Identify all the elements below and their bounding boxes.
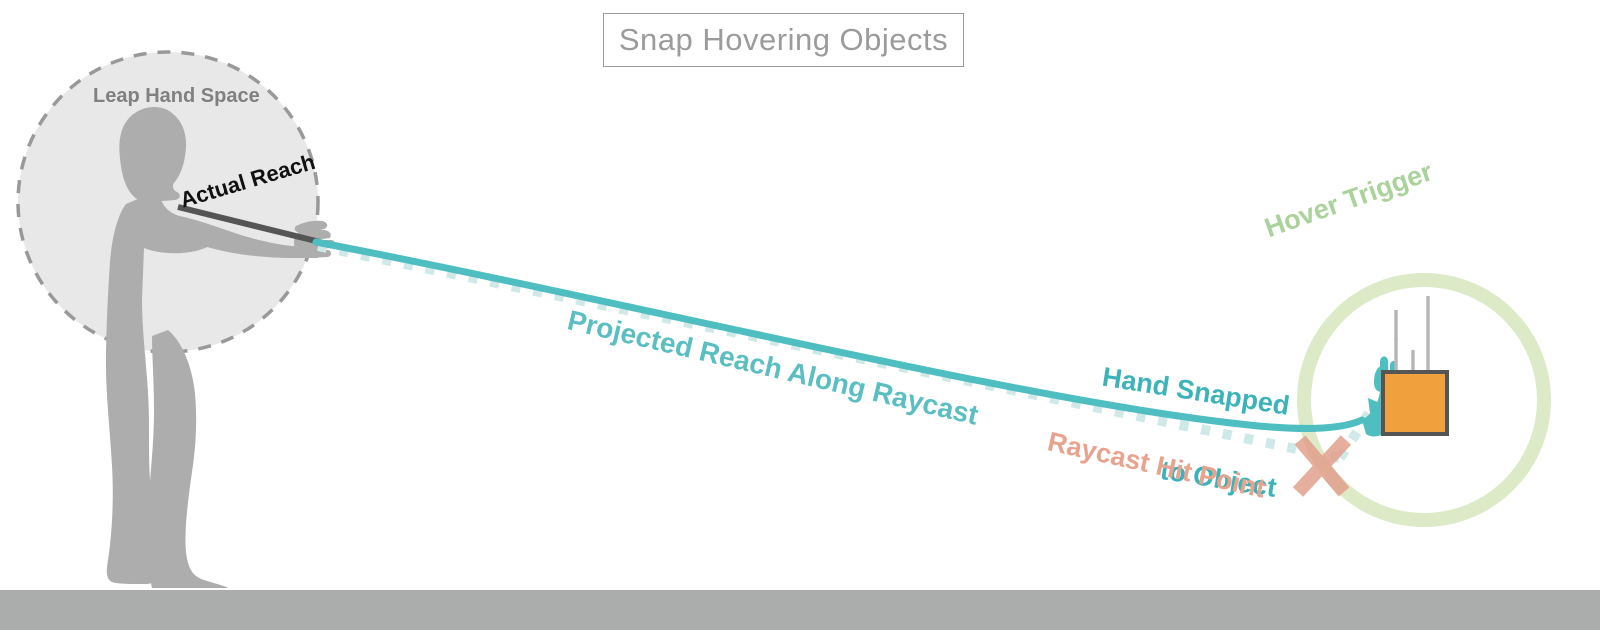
label-leap-hand-space: Leap Hand Space <box>93 86 260 106</box>
label-hand-snapped-to-object: Hand Snapped to Object <box>1079 309 1300 556</box>
hovering-object-square[interactable] <box>1383 372 1447 434</box>
page-title: Snap Hovering Objects <box>619 22 948 58</box>
motion-lines <box>1396 296 1428 370</box>
label-hand-snapped-line1: Hand Snapped <box>1100 364 1291 421</box>
title-box: Snap Hovering Objects <box>603 13 964 67</box>
floor-bar <box>0 590 1600 630</box>
raycast-hit-point-marker <box>1298 440 1346 492</box>
diagram-canvas: Snap Hovering Objects Leap Hand Space Ac… <box>0 0 1600 630</box>
